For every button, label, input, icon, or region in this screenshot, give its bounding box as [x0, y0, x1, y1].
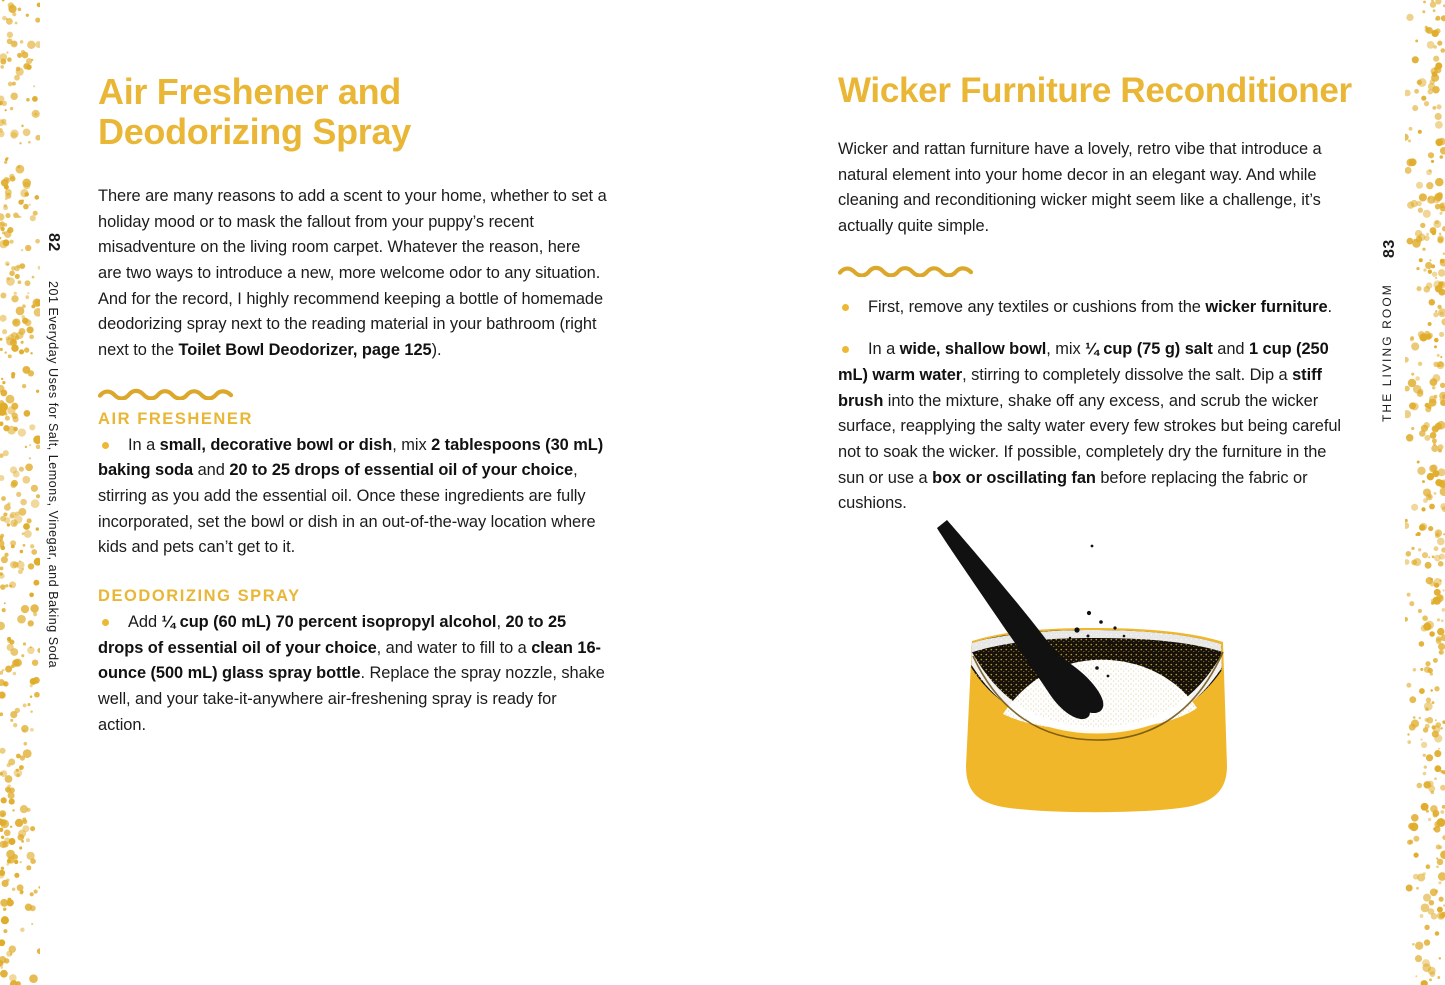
list-item: In a small, decorative bowl or dish, mix… — [98, 433, 608, 561]
bullet-dot-icon — [102, 619, 109, 626]
deodorizing-spray-steps: Add ¼ cup (60 mL) 70 percent isopropyl a… — [98, 610, 608, 738]
text-run: , mix — [1046, 340, 1085, 358]
book-spread: 82 201 Everyday Uses for Salt, Lemons, V… — [0, 0, 1445, 985]
bullet-dot-icon — [842, 346, 849, 353]
emphasis-run: 20 to 25 drops of essential oil of your … — [229, 461, 573, 479]
list-item: First, remove any textiles or cushions f… — [838, 295, 1343, 321]
list-item: Add ¼ cup (60 mL) 70 percent isopropyl a… — [98, 610, 608, 738]
left-page-intro-paragraph: There are many reasons to add a scent to… — [98, 184, 608, 364]
left-squiggle-divider-wrap — [98, 388, 608, 400]
wicker-steps: First, remove any textiles or cushions f… — [838, 295, 1343, 517]
text-run: . — [1328, 298, 1333, 316]
intro-text: There are many reasons to add a scent to… — [98, 187, 607, 359]
text-run: and — [193, 461, 229, 479]
emphasis-run: wicker furniture — [1205, 298, 1327, 316]
list-item: In a wide, shallow bowl, mix ¼ cup (75 g… — [838, 337, 1343, 517]
left-page-title: Air Freshener and Deodorizing Spray — [98, 0, 608, 152]
text-run: In a — [868, 340, 900, 358]
left-margin-column: 82 201 Everyday Uses for Salt, Lemons, V… — [38, 0, 72, 985]
emphasis-run: ¼ cup (60 mL) 70 percent isopropyl alcoh… — [162, 613, 497, 631]
left-page-number: 82 — [44, 233, 62, 252]
bowl-of-salt-illustration — [925, 508, 1265, 848]
text-run: , mix — [392, 436, 431, 454]
subheading-air-freshener: AIR FRESHENER — [98, 410, 608, 429]
bullet-dot-icon — [102, 442, 109, 449]
emphasis-run: box or oscillating fan — [932, 469, 1096, 487]
left-page-title-line2: Deodorizing Spray — [98, 111, 411, 152]
text-run: , and water to fill to a — [377, 639, 532, 657]
text-run: In a — [128, 436, 160, 454]
text-run: and — [1213, 340, 1249, 358]
right-margin-column: 83 THE LIVING ROOM — [1373, 0, 1407, 985]
left-running-head: 201 Everyday Uses for Salt, Lemons, Vine… — [46, 281, 60, 668]
left-dot-border — [0, 0, 40, 985]
emphasis-run: wide, shallow bowl — [900, 340, 1047, 358]
air-freshener-steps: In a small, decorative bowl or dish, mix… — [98, 433, 608, 561]
text-run: First, remove any textiles or cushions f… — [868, 298, 1205, 316]
intro-tail: ). — [432, 341, 442, 359]
right-running-head: THE LIVING ROOM — [1380, 283, 1394, 422]
left-page-title-line1: Air Freshener and — [98, 71, 401, 112]
right-page-title: Wicker Furniture Reconditioner — [838, 0, 1343, 111]
text-run: Add — [128, 613, 162, 631]
emphasis-run: ¼ cup (75 g) salt — [1085, 340, 1213, 358]
bullet-dot-icon — [842, 304, 849, 311]
subheading-deodorizing-spray: DEODORIZING SPRAY — [98, 587, 608, 606]
right-page-number: 83 — [1381, 239, 1399, 258]
left-page: Air Freshener and Deodorizing Spray Ther… — [98, 0, 608, 985]
right-squiggle-divider-wrap — [838, 265, 1343, 277]
text-run: , stirring to completely dissolve the sa… — [962, 366, 1292, 384]
right-dot-border — [1405, 0, 1445, 985]
squiggle-divider-icon — [838, 265, 974, 277]
squiggle-divider-icon — [98, 388, 234, 400]
right-page-intro-paragraph: Wicker and rattan furniture have a lovel… — [838, 137, 1343, 240]
emphasis-run: small, decorative bowl or dish — [160, 436, 393, 454]
intro-cross-reference: Toilet Bowl Deodorizer, page 125 — [179, 341, 432, 359]
